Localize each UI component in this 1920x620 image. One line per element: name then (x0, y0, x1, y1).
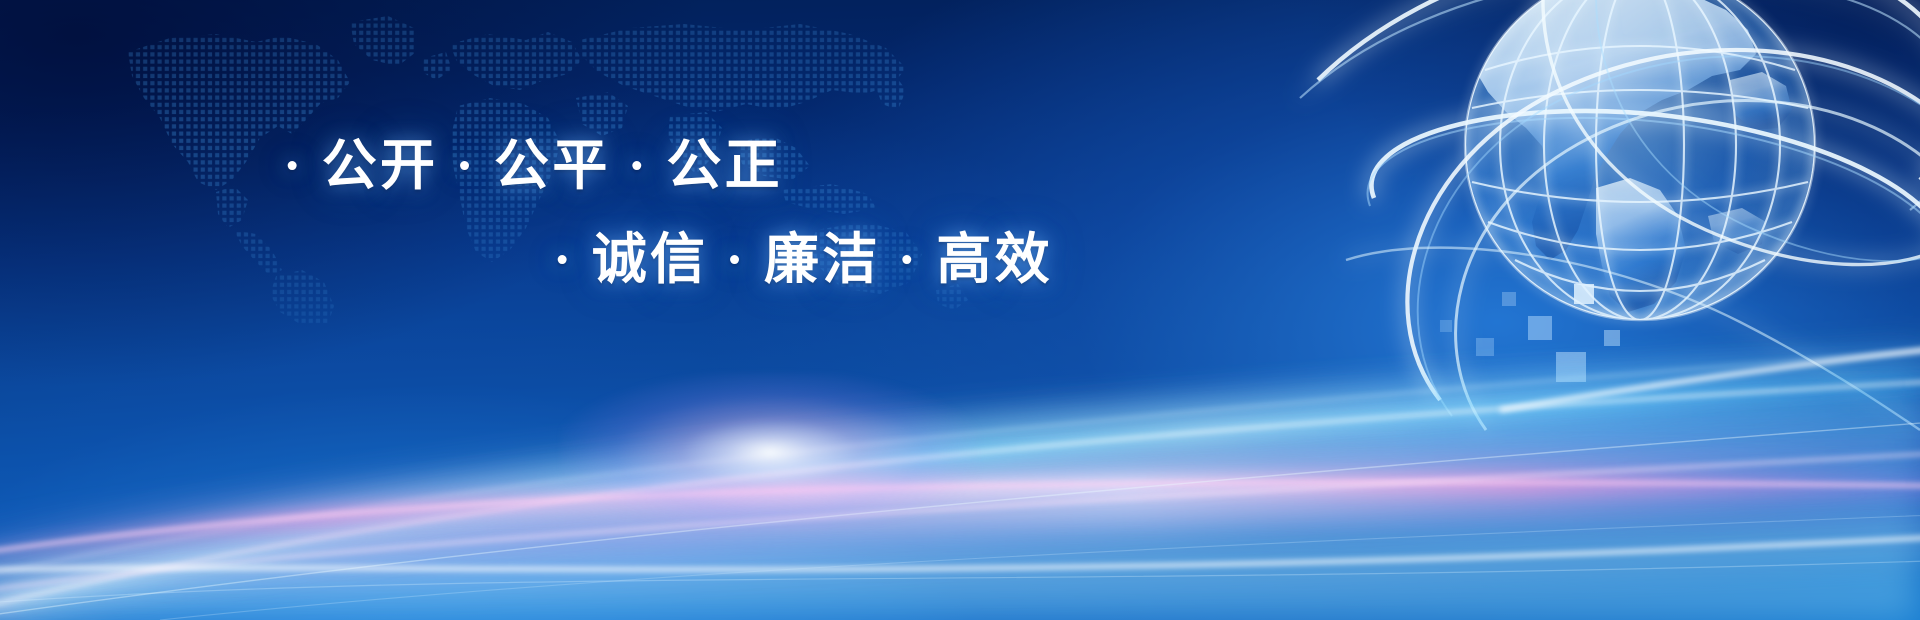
banner-hero: · 公开 · 公平 · 公正 · 诚信 · 廉洁 · 高效 (0, 0, 1920, 620)
light-wave-graphic (0, 260, 1920, 620)
